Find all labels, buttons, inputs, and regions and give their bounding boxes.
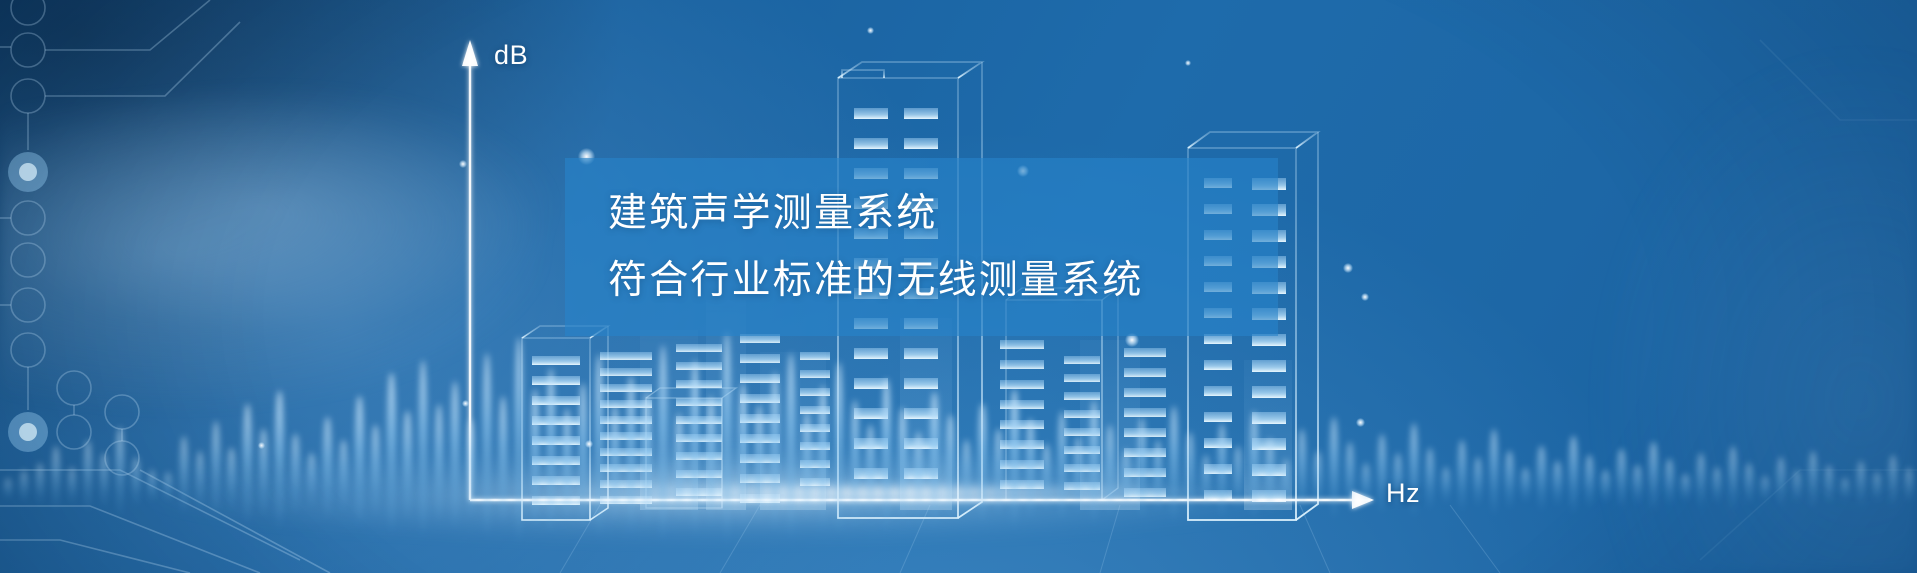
hero-banner: 建筑声学测量系统 符合行业标准的无线测量系统 dB Hz — [0, 0, 1917, 573]
headline-container: 建筑声学测量系统 符合行业标准的无线测量系统 — [608, 158, 1308, 336]
y-axis-label: dB — [494, 40, 528, 71]
page-title: 建筑声学测量系统 — [608, 193, 1308, 234]
x-axis-label: Hz — [1386, 478, 1420, 509]
page-subtitle: 符合行业标准的无线测量系统 — [608, 260, 1308, 301]
